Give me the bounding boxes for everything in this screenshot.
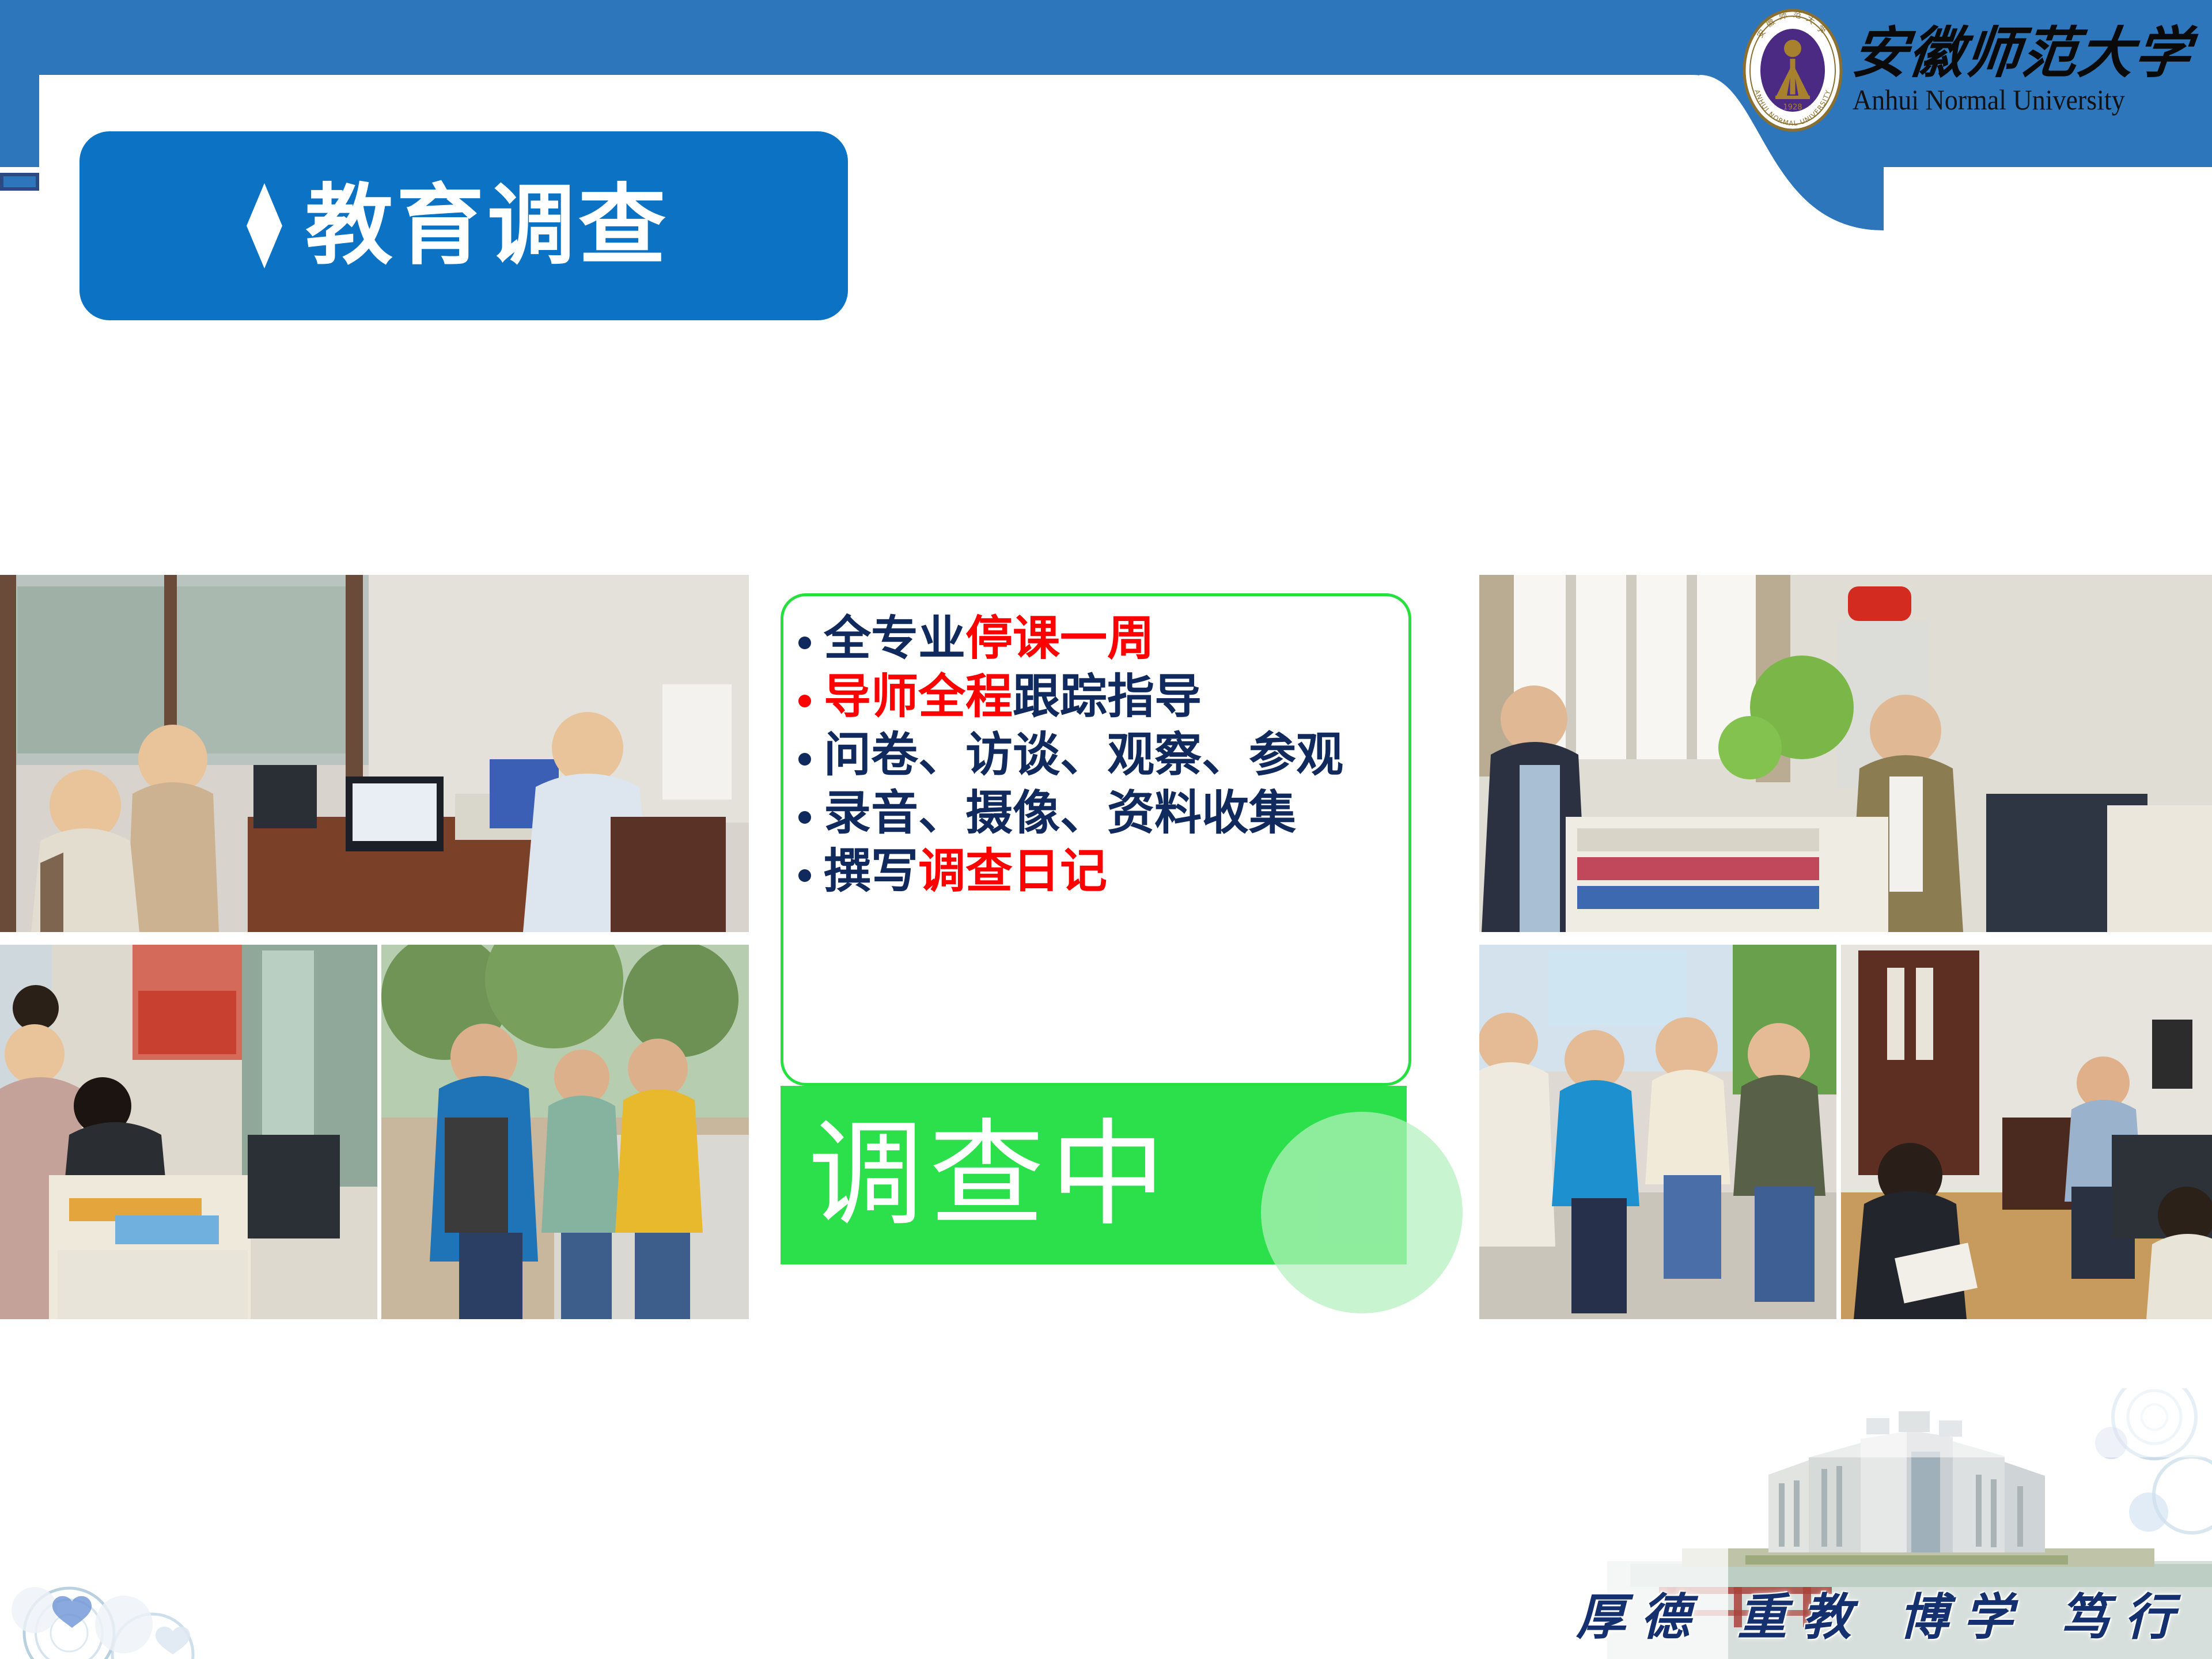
- list-item: 导师全程跟踪指导: [798, 669, 1391, 724]
- list-item: 撰写调查日记: [798, 844, 1391, 899]
- bullet-dot-icon: [798, 869, 811, 882]
- photo-teacher-desk: [0, 945, 377, 1319]
- header-left-stub: [0, 0, 39, 163]
- survey-method-list: 全专业停课一周 导师全程跟踪指导 问卷、访谈、观察、参观 录音、摄像、资料收集 …: [798, 611, 1391, 899]
- university-seal-icon: 1928 ANHUI NORMAL UNIVERSITY 安徽师范大学: [1742, 8, 1843, 132]
- list-item-label: 录音、摄像、资料收集: [824, 786, 1391, 840]
- brand-text-block: 安徽师范大学 Anhui Normal University: [1853, 25, 2191, 116]
- brand-name-en: Anhui Normal University: [1853, 84, 2125, 116]
- status-badge: 调查中: [808, 1118, 1171, 1233]
- segment-plain: 全专业: [824, 611, 965, 666]
- list-item: 录音、摄像、资料收集: [798, 786, 1391, 840]
- section-title-label: 教育调查: [305, 182, 669, 270]
- university-brand: 1928 ANHUI NORMAL UNIVERSITY 安徽师范大学 安徽师范…: [1742, 8, 2191, 132]
- bullet-dot-icon: [798, 811, 811, 824]
- segment-highlight: 停课一周: [965, 611, 1154, 666]
- photo-pupils-bench: [1479, 945, 1836, 1319]
- list-item-label: 导师全程跟踪指导: [824, 669, 1391, 724]
- diamond-icon: [247, 183, 282, 268]
- bullet-dot-icon: [798, 637, 811, 649]
- list-item-label: 撰写调查日记: [824, 844, 1391, 899]
- segment-highlight: 导师全程: [824, 669, 1013, 724]
- survey-method-card: 全专业停课一周 导师全程跟踪指导 问卷、访谈、观察、参观 录音、摄像、资料收集 …: [781, 593, 1411, 1086]
- segment-highlight: 调查日记: [918, 844, 1107, 899]
- photo-office-interview: [0, 575, 749, 932]
- brand-name-cn: 安徽师范大学: [1850, 25, 2194, 81]
- left-edge-marker: [0, 173, 39, 191]
- section-title-chip: 教育调查: [79, 131, 848, 320]
- photo-meeting-room: [1841, 945, 2212, 1319]
- university-motto: 厚德 重教 博学 笃行: [1576, 1577, 2189, 1649]
- list-item-label: 全专业停课一周: [824, 611, 1391, 666]
- photo-campus-survey: [381, 945, 749, 1319]
- list-item: 问卷、访谈、观察、参观: [798, 728, 1391, 782]
- segment-plain: 跟踪指导: [1013, 669, 1202, 724]
- segment-plain: 撰写: [824, 844, 918, 899]
- svg-text:1928: 1928: [1783, 103, 1802, 112]
- photo-principal-talk: [1479, 575, 2212, 932]
- footer-left-decor: [0, 1486, 357, 1659]
- list-item: 全专业停课一周: [798, 611, 1391, 666]
- list-item-label: 问卷、访谈、观察、参观: [824, 728, 1391, 782]
- bullet-dot-icon: [798, 695, 811, 707]
- bullet-dot-icon: [798, 753, 811, 766]
- status-circle-decor: [1261, 1112, 1463, 1313]
